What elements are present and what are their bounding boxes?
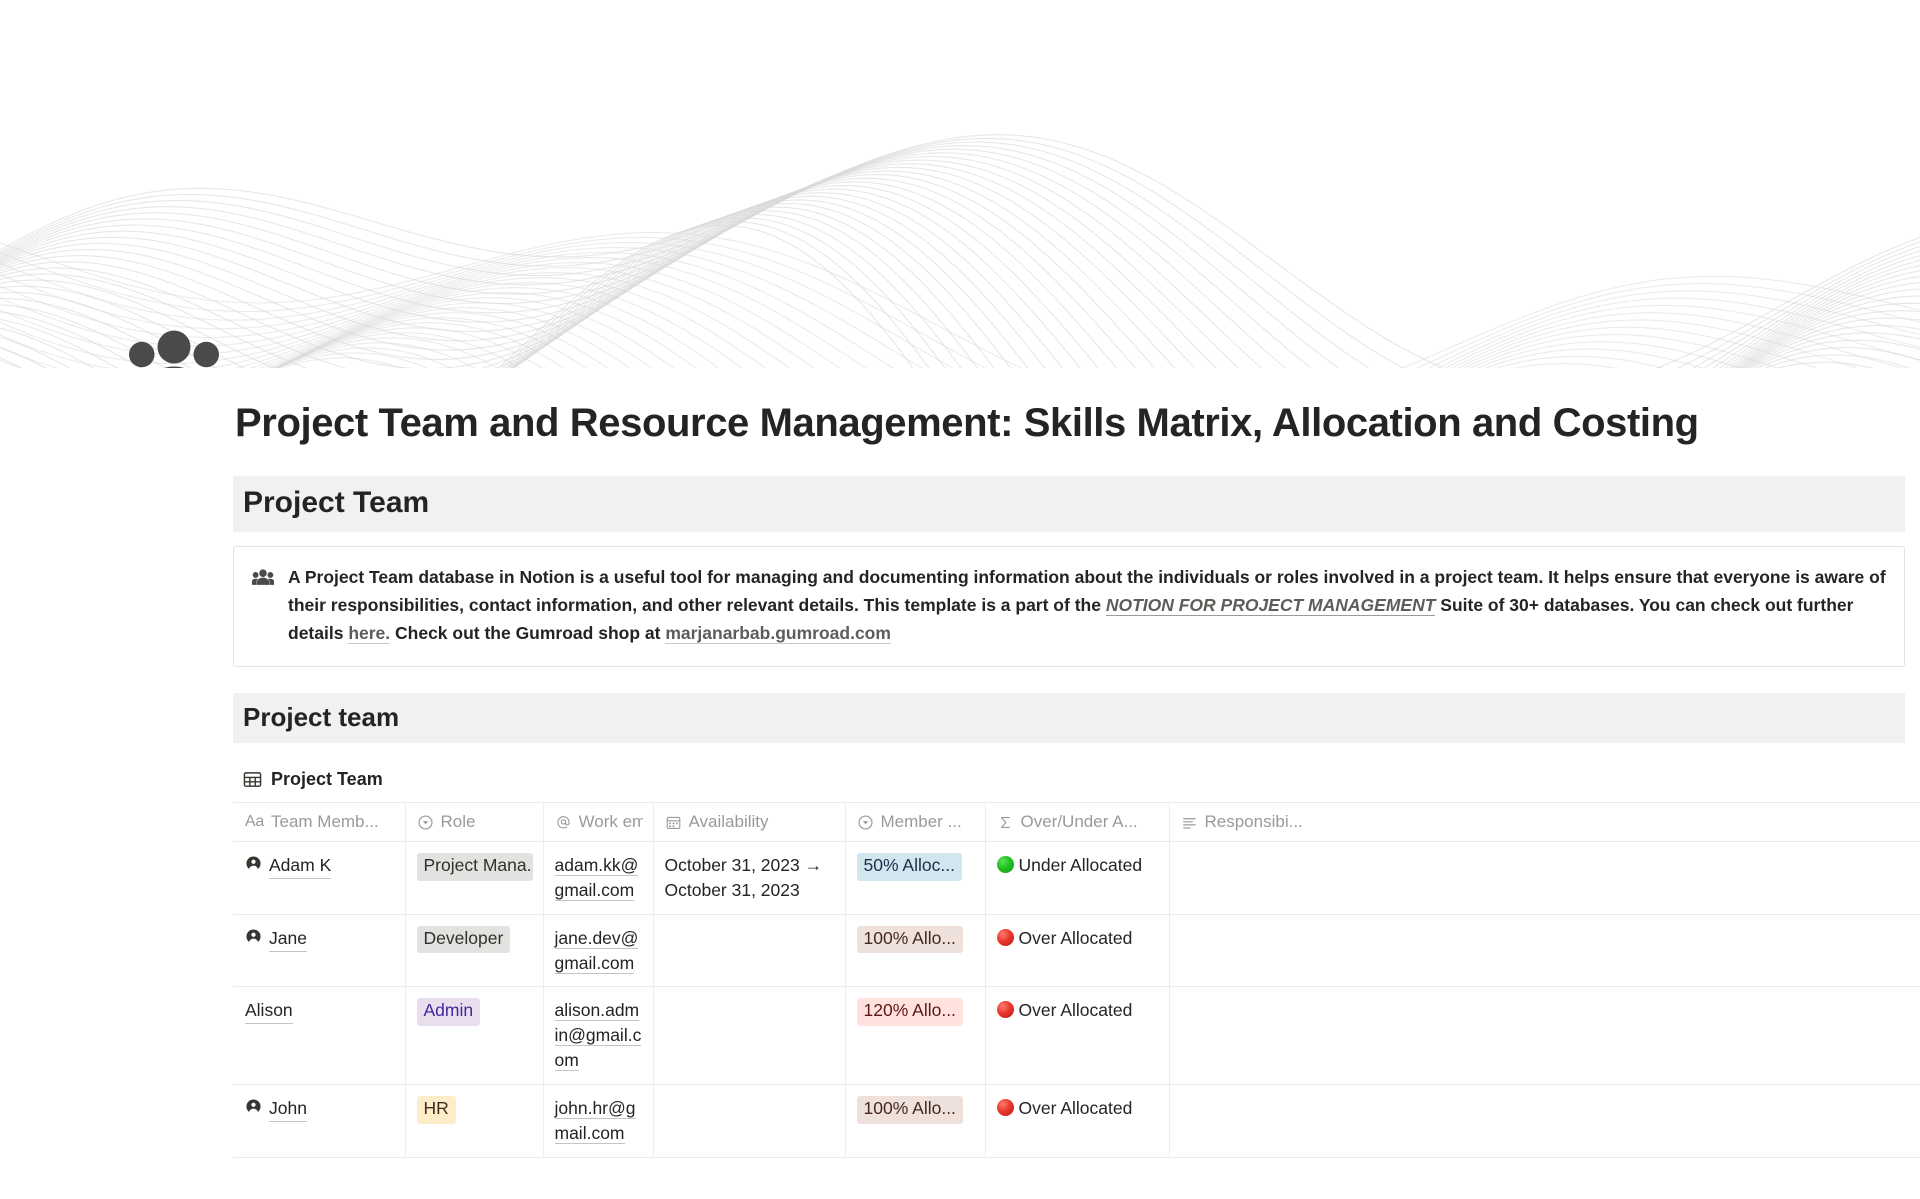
people-group-icon [252, 563, 274, 589]
cell-team-member[interactable]: Adam K [233, 842, 405, 915]
column-header-label: Member ... [881, 812, 962, 832]
work-email-link[interactable]: john.hr@gmail.com [555, 1098, 636, 1144]
page-icon [126, 320, 222, 368]
section-heading-project-team: Project Team [233, 476, 1905, 532]
cell-member-allocation[interactable]: 100% Allo... [845, 914, 985, 987]
avatar-person-icon [245, 853, 262, 872]
cell-team-member[interactable]: Jane [233, 914, 405, 987]
cell-over-under-allocation[interactable]: Over Allocated [985, 987, 1169, 1085]
callout-text-part-3: Check out the Gumroad shop at [390, 623, 665, 643]
database-title-label: Project Team [271, 769, 383, 790]
table-header-row: Aa Team Memb... Role [233, 803, 1920, 842]
status-label: Under Allocated [1019, 853, 1143, 878]
project-team-table: Aa Team Memb... Role [233, 802, 1920, 1158]
table-grid-icon [243, 770, 262, 789]
cell-over-under-allocation[interactable]: Under Allocated [985, 842, 1169, 915]
cell-work-email[interactable]: alison.admin@gmail.com [543, 987, 653, 1085]
link-gumroad-shop[interactable]: marjanarbab.gumroad.com [665, 623, 891, 644]
column-header-label: Availability [689, 812, 769, 832]
cell-work-email[interactable]: adam.kk@gmail.com [543, 842, 653, 915]
cell-over-under-allocation[interactable]: Over Allocated [985, 914, 1169, 987]
cell-availability[interactable] [653, 1084, 845, 1157]
status-dot-green [997, 856, 1014, 873]
status-dot-red [997, 929, 1014, 946]
column-header-work-email[interactable]: Work email [543, 803, 653, 842]
member-allocation-tag: 50% Alloc... [857, 853, 962, 881]
work-email-link[interactable]: alison.admin@gmail.com [555, 1000, 642, 1071]
cell-work-email[interactable]: john.hr@gmail.com [543, 1084, 653, 1157]
link-here[interactable]: here. [348, 623, 390, 644]
work-email-link[interactable]: jane.dev@gmail.com [555, 928, 639, 974]
page-cover-banner [0, 0, 1920, 368]
status-dot-red [997, 1001, 1014, 1018]
database-block: Project Team Aa Team Memb... [233, 765, 1920, 1158]
status-label: Over Allocated [1019, 998, 1133, 1023]
column-header-label: Work email [579, 812, 643, 832]
cell-over-under-allocation[interactable]: Over Allocated [985, 1084, 1169, 1157]
calendar-icon [665, 814, 682, 831]
sigma-formula-icon [997, 814, 1014, 831]
team-member-name[interactable]: John [269, 1096, 307, 1122]
cell-responsibilities[interactable] [1169, 987, 1920, 1085]
team-member-name[interactable]: Adam K [269, 853, 331, 879]
column-header-responsibilities[interactable]: Responsibi... [1169, 803, 1920, 842]
member-allocation-tag: 120% Allo... [857, 998, 963, 1026]
member-allocation-tag: 100% Allo... [857, 1096, 963, 1124]
cell-role[interactable]: Admin [405, 987, 543, 1085]
cell-role[interactable]: Developer [405, 914, 543, 987]
cell-responsibilities[interactable] [1169, 842, 1920, 915]
callout-text: A Project Team database in Notion is a u… [288, 563, 1886, 648]
table-row[interactable]: AlisonAdminalison.admin@gmail.com120% Al… [233, 987, 1920, 1085]
cell-responsibilities[interactable] [1169, 914, 1920, 987]
text-lines-icon [1181, 814, 1198, 831]
cell-team-member[interactable]: Alison [233, 987, 405, 1085]
column-header-role[interactable]: Role [405, 803, 543, 842]
work-email-link[interactable]: adam.kk@gmail.com [555, 855, 639, 901]
status-label: Over Allocated [1019, 926, 1133, 951]
avatar-person-icon [245, 926, 262, 945]
cell-availability[interactable] [653, 914, 845, 987]
section-heading-project-team-db: Project team [233, 693, 1905, 744]
role-tag: Project Mana... [417, 853, 533, 881]
column-header-team-member[interactable]: Aa Team Memb... [233, 803, 405, 842]
cell-team-member[interactable]: John [233, 1084, 405, 1157]
table-row[interactable]: Adam KProject Mana...adam.kk@gmail.comOc… [233, 842, 1920, 915]
cell-member-allocation[interactable]: 100% Allo... [845, 1084, 985, 1157]
cell-work-email[interactable]: jane.dev@gmail.com [543, 914, 653, 987]
column-header-label: Over/Under A... [1021, 812, 1138, 832]
avatar-person-icon [245, 1096, 262, 1115]
select-circle-icon [417, 814, 434, 831]
table-row[interactable]: JaneDeveloperjane.dev@gmail.com100% Allo… [233, 914, 1920, 987]
role-tag: HR [417, 1096, 456, 1124]
column-header-over-under-allocation[interactable]: Over/Under A... [985, 803, 1169, 842]
callout-block: A Project Team database in Notion is a u… [233, 546, 1905, 667]
text-aa-icon: Aa [245, 813, 264, 831]
select-circle-icon [857, 814, 874, 831]
cell-availability[interactable] [653, 987, 845, 1085]
column-header-availability[interactable]: Availability [653, 803, 845, 842]
team-member-name[interactable]: Jane [269, 926, 307, 952]
cell-member-allocation[interactable]: 120% Allo... [845, 987, 985, 1085]
cell-availability[interactable]: October 31, 2023 → October 31, 2023 [653, 842, 845, 915]
team-member-name[interactable]: Alison [245, 998, 293, 1024]
database-title[interactable]: Project Team [233, 765, 1920, 802]
page-title: Project Team and Resource Management: Sk… [235, 368, 1715, 446]
column-header-member-allocation[interactable]: Member ... [845, 803, 985, 842]
column-header-label: Role [441, 812, 476, 832]
role-tag: Developer [417, 926, 511, 954]
role-tag: Admin [417, 998, 481, 1026]
column-header-label: Team Memb... [271, 812, 379, 832]
member-allocation-tag: 100% Allo... [857, 926, 963, 954]
status-dot-red [997, 1099, 1014, 1116]
table-row[interactable]: JohnHRjohn.hr@gmail.com100% Allo...Over … [233, 1084, 1920, 1157]
cell-responsibilities[interactable] [1169, 1084, 1920, 1157]
cell-role[interactable]: Project Mana... [405, 842, 543, 915]
column-header-label: Responsibi... [1205, 812, 1303, 832]
link-notion-for-project-management[interactable]: NOTION FOR PROJECT MANAGEMENT [1106, 595, 1436, 616]
at-sign-icon [555, 814, 572, 831]
status-label: Over Allocated [1019, 1096, 1133, 1121]
cell-member-allocation[interactable]: 50% Alloc... [845, 842, 985, 915]
cell-role[interactable]: HR [405, 1084, 543, 1157]
wave-pattern-graphic [0, 0, 1920, 368]
